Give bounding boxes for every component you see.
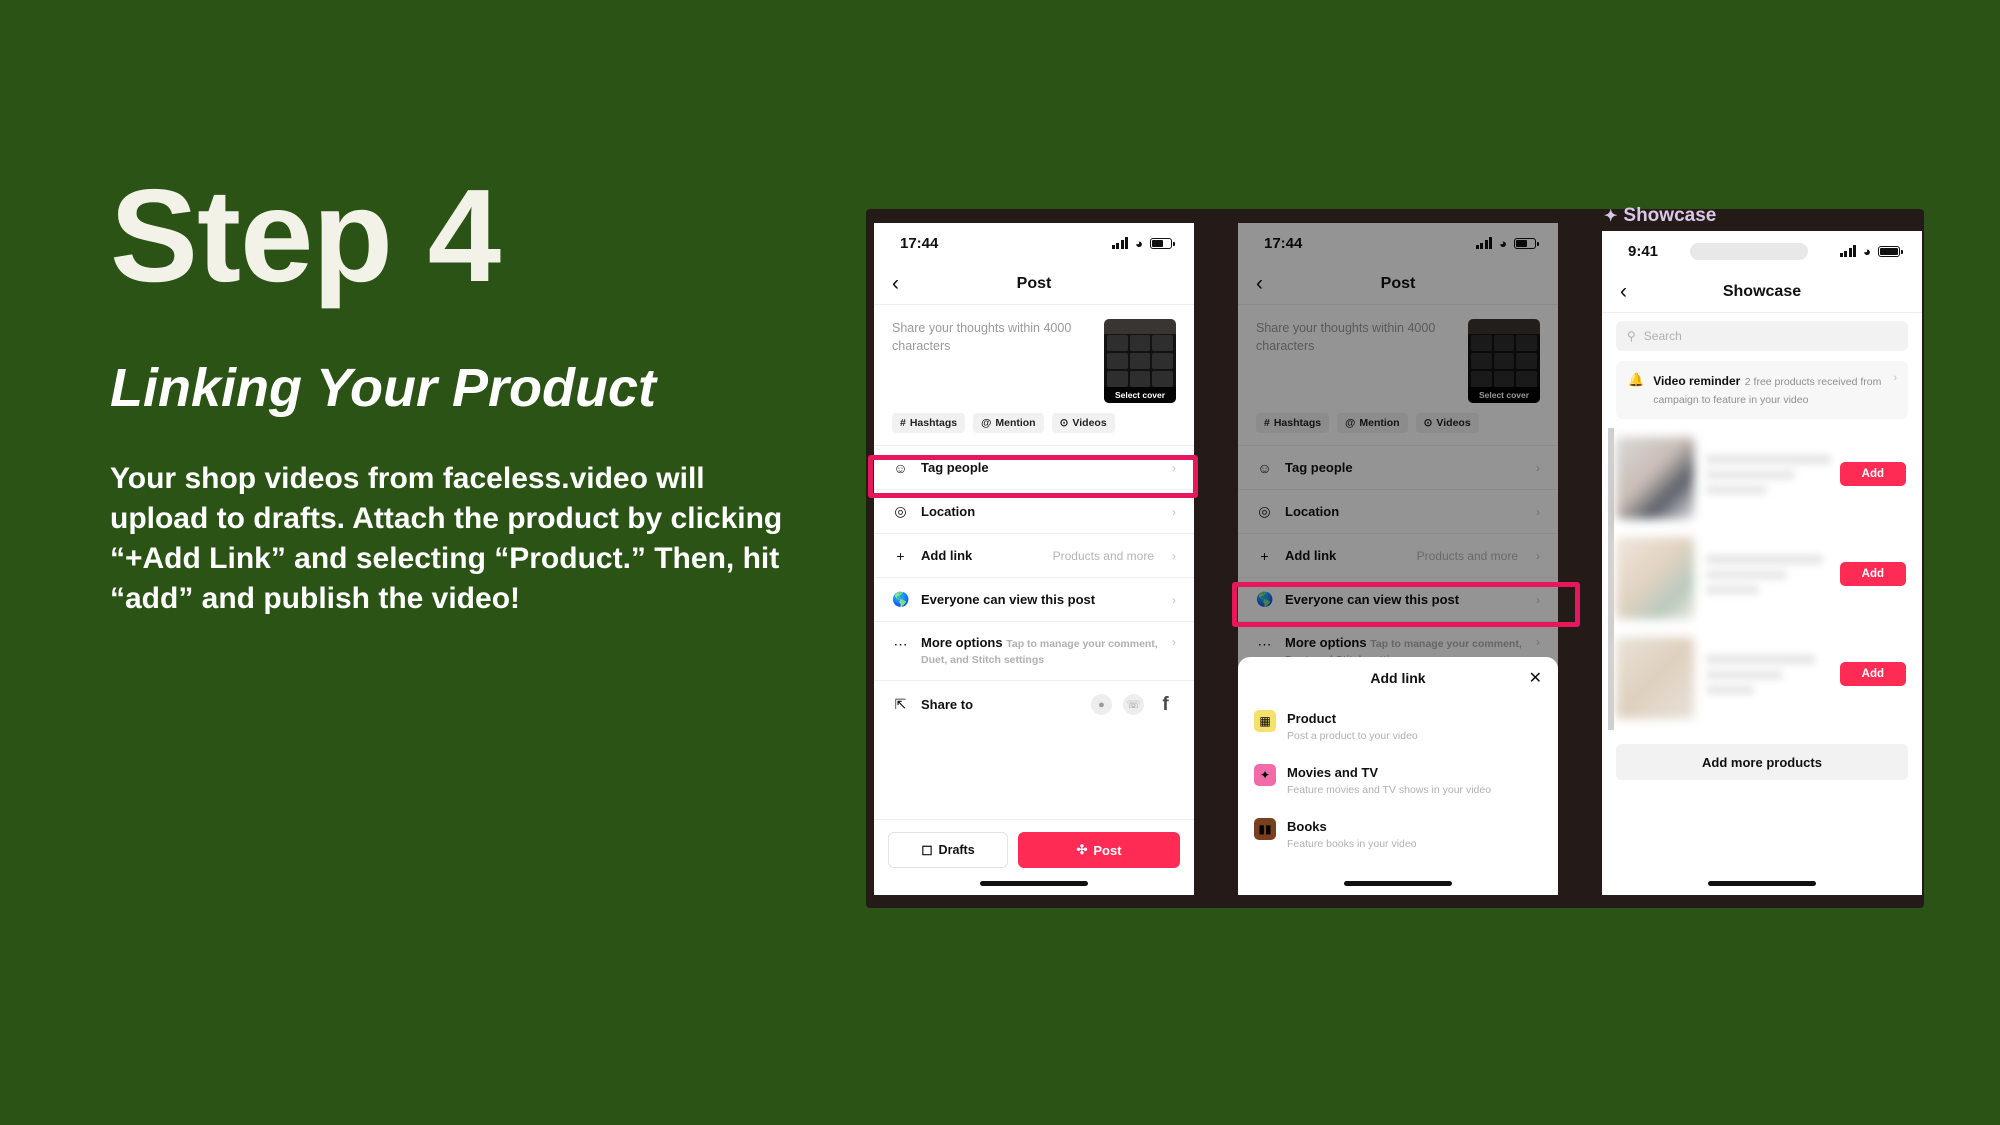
more-options-icon: ⋯ [1256,636,1273,653]
video-reminder-card[interactable]: 🔔 Video reminder 2 free products receive… [1616,361,1908,419]
battery-icon [1514,238,1536,249]
row-label: Tag people [1285,460,1524,475]
row-more-options[interactable]: ⋯ More options Tap to manage your commen… [874,621,1194,680]
option-title: Movies and TV [1287,765,1378,780]
cellular-signal-icon [1476,237,1493,249]
video-icon: ⊙ [1060,417,1069,429]
close-icon[interactable]: ✕ [1529,668,1542,688]
row-label: Location [1285,504,1524,519]
product-thumbnail [1616,637,1694,719]
share-arrow-icon: ⇱ [892,696,909,713]
plus-icon: + [892,548,909,564]
sheet-option-movies[interactable]: ✦ Movies and TV Feature movies and TV sh… [1238,753,1558,807]
person-icon: ☺ [1256,460,1273,476]
chevron-right-icon: › [1536,549,1540,563]
chip-label: Videos [1436,417,1470,429]
whatsapp-icon[interactable]: ☏ [1123,694,1144,715]
phone-screen-showcase: 9:41 ◕ ‹ Showcase ⚲ Search 🔔 [1602,231,1922,895]
row-tag-people[interactable]: ☺ Tag people › [1238,445,1558,489]
showcase-badge-icon: ✦ [1604,206,1617,226]
status-time: 17:44 [1264,235,1302,252]
search-input[interactable]: ⚲ Search [1616,321,1908,351]
chip-label: Hashtags [1274,417,1321,429]
status-time: 17:44 [900,235,938,252]
composer-area: Share your thoughts within 4000 characte… [1238,305,1558,409]
row-location[interactable]: ◎ Location › [1238,489,1558,533]
status-bar: 9:41 ◕ [1602,231,1922,271]
product-thumbnail [1616,537,1694,619]
row-label: More options [1285,635,1367,650]
chevron-right-icon: › [1536,505,1540,519]
chip-label: Mention [1359,417,1399,429]
add-product-button[interactable]: Add [1840,662,1906,686]
nav-bar: ‹ Showcase [1602,271,1922,313]
generic-share-icon[interactable]: ● [1091,694,1112,715]
wifi-icon: ◕ [1135,236,1143,251]
facebook-icon[interactable]: f [1155,694,1176,715]
nav-title: Post [1017,275,1052,293]
movie-reel-icon: ✦ [1254,764,1276,786]
chip-hashtags[interactable]: # Hashtags [1256,413,1329,433]
body-paragraph: Your shop videos from faceless.video wil… [110,459,800,620]
sheet-option-product[interactable]: ▦ Product Post a product to your video [1238,699,1558,753]
location-pin-icon: ◎ [1256,503,1273,520]
add-product-button[interactable]: Add [1840,562,1906,586]
option-desc: Feature books in your video [1287,838,1417,850]
add-more-products-button[interactable]: Add more products [1616,744,1908,780]
status-time: 9:41 [1628,243,1658,260]
add-product-button[interactable]: Add [1840,462,1906,486]
option-title: Product [1287,711,1336,726]
video-icon: ⊙ [1424,417,1433,429]
row-label: Everyone can view this post [921,592,1160,607]
search-icon: ⚲ [1627,329,1636,343]
chevron-right-icon: › [1536,461,1540,475]
search-placeholder: Search [1644,329,1682,343]
option-desc: Feature movies and TV shows in your vide… [1287,784,1491,796]
globe-icon: 🌎 [892,591,909,608]
back-button[interactable]: ‹ [1256,272,1263,296]
select-cover-label[interactable]: Select cover [1104,387,1176,403]
cover-image-content [1471,335,1537,387]
share-target-icons: ● ☏ f [1091,694,1176,715]
caption-input[interactable]: Share your thoughts within 4000 characte… [1256,319,1458,403]
drafts-box-icon: ☐ [921,843,932,858]
chip-videos[interactable]: ⊙ Videos [1052,413,1115,433]
row-add-link[interactable]: + Add link Products and more › [1238,533,1558,577]
section-subtitle: Linking Your Product [110,360,810,417]
sheet-title: Add link [1370,670,1425,686]
chip-mention[interactable]: @ Mention [973,413,1044,433]
phone-screen-add-link: 17:44 ◕ ‹ Post Share your thoughts withi… [1238,223,1558,895]
list-item[interactable]: Add [1602,628,1922,728]
drafts-label: Drafts [939,843,975,857]
sheet-option-books[interactable]: ▮▮ Books Feature books in your video [1238,807,1558,861]
cover-thumbnail[interactable]: Select cover [1468,319,1540,403]
slide-root: Step 4 Linking Your Product Your shop vi… [0,0,2000,1125]
row-label: Location [921,504,1160,519]
nav-bar: ‹ Post [874,263,1194,305]
sheet-header: Add link ✕ [1238,657,1558,699]
option-desc: Post a product to your video [1287,730,1418,742]
row-label: Add link [921,548,1041,563]
location-pin-icon: ◎ [892,503,909,520]
cover-thumbnail[interactable]: Select cover [1104,319,1176,403]
status-bar: 17:44 ◕ [874,223,1194,263]
battery-icon [1878,246,1900,257]
wifi-icon: ◕ [1499,236,1507,251]
page-title: Step 4 [110,170,810,302]
hash-icon: # [1264,417,1270,429]
plus-icon: + [1256,548,1273,564]
bell-icon: 🔔 [1628,372,1644,408]
phone-screen-post: 17:44 ◕ ‹ Post Share your thoughts withi… [874,223,1194,895]
quick-insert-chips: # Hashtags @ Mention ⊙ Videos [1238,409,1558,445]
product-option-highlight [1232,582,1580,627]
showcase-tab-fragment: ✦ Showcase [1604,203,1716,229]
list-item[interactable]: Add [1602,528,1922,628]
product-list: Add Add Add [1602,428,1922,730]
list-item[interactable]: Add [1602,428,1922,528]
post-label: Post [1093,843,1121,858]
home-indicator [980,881,1088,886]
add-link-sheet: Add link ✕ ▦ Product Post a product to y… [1238,657,1558,895]
select-cover-label[interactable]: Select cover [1468,387,1540,403]
home-indicator [1708,881,1816,886]
book-icon: ▮▮ [1254,818,1276,840]
row-value: Products and more [1417,549,1518,563]
hash-icon: # [900,417,906,429]
wifi-icon: ◕ [1863,244,1871,259]
composer-area: Share your thoughts within 4000 characte… [874,305,1194,409]
chip-videos[interactable]: ⊙ Videos [1416,413,1479,433]
chip-label: Mention [995,417,1035,429]
chip-label: Hashtags [910,417,957,429]
caption-input[interactable]: Share your thoughts within 4000 characte… [892,319,1094,403]
cellular-signal-icon [1112,237,1129,249]
home-indicator [1344,881,1452,886]
text-column: Step 4 Linking Your Product Your shop vi… [110,170,810,619]
upload-arrow-icon: ✣ [1076,842,1087,858]
row-label: Share to [921,697,1079,712]
nav-title: Post [1381,275,1416,293]
chevron-right-icon: › [1172,549,1176,563]
at-mention-icon: @ [1345,417,1355,429]
chevron-right-icon: › [1172,505,1176,519]
at-mention-icon: @ [981,417,991,429]
row-label: Add link [1285,548,1405,563]
product-thumbnail [1616,437,1694,519]
row-share-to[interactable]: ⇱ Share to ● ☏ f [874,680,1194,728]
drafts-button[interactable]: ☐ Drafts [888,832,1008,868]
back-button[interactable]: ‹ [1620,280,1627,304]
cover-image-content [1107,335,1173,387]
quick-insert-chips: # Hashtags @ Mention ⊙ Videos [874,409,1194,445]
back-button[interactable]: ‹ [892,272,899,296]
row-label: More options [921,635,1003,650]
chevron-right-icon: › [1893,372,1897,384]
chevron-right-icon: › [1172,635,1176,649]
chip-label: Videos [1072,417,1106,429]
chevron-right-icon: › [1536,635,1540,649]
nav-title: Showcase [1723,283,1801,301]
showcase-tab-label: Showcase [1623,205,1716,227]
row-value: Products and more [1053,549,1154,563]
search-section: ⚲ Search [1602,313,1922,361]
dynamic-island [1690,243,1808,260]
screenshot-panel: ✦ Showcase 17:44 ◕ ‹ Post Share your tho… [866,209,1924,908]
nav-bar: ‹ Post [1238,263,1558,305]
cellular-signal-icon [1840,245,1857,257]
chip-mention[interactable]: @ Mention [1337,413,1408,433]
post-button[interactable]: ✣ Post [1018,832,1180,868]
add-link-highlight [868,455,1198,498]
status-bar: 17:44 ◕ [1238,223,1558,263]
row-privacy[interactable]: 🌎 Everyone can view this post › [874,577,1194,621]
chip-hashtags[interactable]: # Hashtags [892,413,965,433]
option-title: Books [1287,819,1327,834]
product-bag-icon: ▦ [1254,710,1276,732]
battery-icon [1150,238,1172,249]
row-add-link[interactable]: + Add link Products and more › [874,533,1194,577]
more-options-icon: ⋯ [892,636,909,653]
reminder-title: Video reminder [1653,374,1740,388]
chevron-right-icon: › [1172,593,1176,607]
